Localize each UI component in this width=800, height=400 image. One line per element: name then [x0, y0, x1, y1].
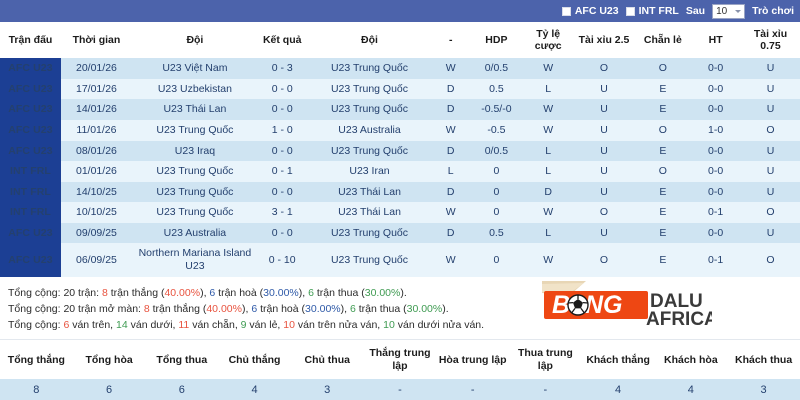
match-over-under-25: O [573, 202, 636, 223]
match-over-under-075: U [741, 58, 800, 79]
page-root: AFC U23 INT FRL Sau 10 Trò chơi Trận đấu… [0, 0, 800, 400]
top-filter-bar: AFC U23 INT FRL Sau 10 Trò chơi [0, 0, 800, 22]
match-row[interactable]: AFC U2311/01/26U23 Trung Quốc1 - 0U23 Au… [0, 120, 800, 141]
match-row[interactable]: AFC U2317/01/26U23 Uzbekistan0 - 0U23 Tr… [0, 79, 800, 100]
match-home-team: U23 Việt Nam [132, 58, 258, 79]
match-date: 14/10/25 [61, 182, 132, 203]
match-date: 06/09/25 [61, 243, 132, 276]
match-halftime-score: 0-0 [690, 79, 741, 100]
match-league-badge: AFC U23 [0, 58, 61, 79]
match-score: 0 - 0 [258, 223, 307, 244]
match-result: D [432, 79, 469, 100]
match-over-under-075: U [741, 182, 800, 203]
stats-value-cell: 8 [0, 379, 73, 400]
match-row[interactable]: INT FRL10/10/25U23 Trung Quốc3 - 1U23 Th… [0, 202, 800, 223]
match-date: 10/10/25 [61, 202, 132, 223]
match-hdp: 0.5 [469, 223, 524, 244]
stats-value-row: 86643---443 [0, 379, 800, 400]
match-odd-even: E [635, 99, 690, 120]
match-over-under-25: U [573, 79, 636, 100]
stats-header-cell: Khách hòa [654, 340, 727, 379]
match-odds-result: L [524, 223, 573, 244]
summary-block: Tổng cộng: 20 trận: 8 trận thắng (40.00%… [0, 277, 800, 340]
match-row[interactable]: AFC U2306/09/25Northern Mariana Island U… [0, 243, 800, 276]
match-league-badge: AFC U23 [0, 120, 61, 141]
match-odds-result: L [524, 161, 573, 182]
header-oddeven: Chẵn lẻ [635, 22, 690, 58]
match-odd-even: E [635, 79, 690, 100]
filter-afc-u23[interactable]: AFC U23 [562, 5, 619, 17]
stats-header-row: Tổng thắngTổng hòaTổng thuaChủ thắngChủ … [0, 340, 800, 379]
match-row[interactable]: AFC U2308/01/26U23 Iraq0 - 0U23 Trung Qu… [0, 141, 800, 162]
match-halftime-score: 0-0 [690, 99, 741, 120]
match-league-badge: AFC U23 [0, 223, 61, 244]
match-over-under-25: O [573, 58, 636, 79]
row-count-select[interactable]: 10 [712, 4, 745, 19]
match-score: 1 - 0 [258, 120, 307, 141]
match-date: 17/01/26 [61, 79, 132, 100]
match-home-team: U23 Trung Quốc [132, 182, 258, 203]
match-odds-result: W [524, 243, 573, 276]
match-halftime-score: 0-0 [690, 182, 741, 203]
filter-afc-u23-label: AFC U23 [575, 5, 619, 17]
match-halftime-score: 0-0 [690, 58, 741, 79]
match-league-badge: AFC U23 [0, 141, 61, 162]
stats-header-cell: Thua trung lập [509, 340, 582, 379]
match-odds-result: W [524, 99, 573, 120]
summary1-losses-pct: 30.00% [365, 287, 401, 299]
match-halftime-score: 0-1 [690, 243, 741, 276]
stats-value-cell: 4 [654, 379, 727, 400]
match-halftime-score: 0-1 [690, 202, 741, 223]
match-over-under-075: U [741, 161, 800, 182]
match-result: D [432, 99, 469, 120]
match-over-under-075: U [741, 99, 800, 120]
match-result: D [432, 141, 469, 162]
bongdalu-africa-logo: B NG DALU AFRICA [540, 279, 712, 331]
match-away-team: U23 Trung Quốc [307, 58, 433, 79]
match-hdp: 0/0.5 [469, 141, 524, 162]
match-result: W [432, 58, 469, 79]
after-label: Sau [686, 5, 705, 17]
summary-stats-table: Tổng thắngTổng hòaTổng thuaChủ thắngChủ … [0, 340, 800, 400]
match-away-team: U23 Thái Lan [307, 182, 433, 203]
stats-header-cell: Khách thua [727, 340, 800, 379]
match-odds-result: W [524, 120, 573, 141]
match-odd-even: E [635, 182, 690, 203]
stats-value-cell: - [509, 379, 582, 400]
match-row[interactable]: AFC U2314/01/26U23 Thái Lan0 - 0U23 Trun… [0, 99, 800, 120]
summary3-over-half: 10 [283, 319, 295, 331]
match-odd-even: O [635, 58, 690, 79]
match-over-under-075: U [741, 79, 800, 100]
match-hdp: 0 [469, 161, 524, 182]
match-home-team: U23 Australia [132, 223, 258, 244]
match-halftime-score: 0-0 [690, 223, 741, 244]
header-odds: Tỷ lệ cược [524, 22, 573, 58]
stats-header-cell: Tổng thua [145, 340, 218, 379]
header-home: Đội [132, 22, 258, 58]
match-result: D [432, 182, 469, 203]
header-hdp: HDP [469, 22, 524, 58]
summary1-wins-pct: 40.00% [164, 287, 200, 299]
match-home-team: U23 Thái Lan [132, 99, 258, 120]
match-date: 01/01/26 [61, 161, 132, 182]
summary2-wins-pct: 40.00% [206, 303, 242, 315]
match-hdp: -0.5 [469, 120, 524, 141]
stats-value-cell: 4 [218, 379, 291, 400]
match-home-team: U23 Trung Quốc [132, 161, 258, 182]
match-hdp: 0 [469, 182, 524, 203]
match-row[interactable]: INT FRL01/01/26U23 Trung Quốc0 - 1U23 Ir… [0, 161, 800, 182]
match-over-under-075: U [741, 141, 800, 162]
match-league-badge: INT FRL [0, 161, 61, 182]
match-away-team: U23 Trung Quốc [307, 79, 433, 100]
match-odd-even: E [635, 202, 690, 223]
match-league-badge: INT FRL [0, 202, 61, 223]
match-over-under-075: O [741, 243, 800, 276]
match-odds-result: L [524, 79, 573, 100]
stats-header-cell: Chủ thua [291, 340, 364, 379]
match-score: 0 - 3 [258, 58, 307, 79]
match-row[interactable]: AFC U2320/01/26U23 Việt Nam0 - 3U23 Trun… [0, 58, 800, 79]
summary3-under-half: 10 [383, 319, 395, 331]
match-score: 0 - 0 [258, 99, 307, 120]
stats-value-cell: 6 [73, 379, 146, 400]
match-score: 0 - 0 [258, 182, 307, 203]
match-home-team: U23 Uzbekistan [132, 79, 258, 100]
match-odds-result: W [524, 58, 573, 79]
match-odd-even: E [635, 141, 690, 162]
match-odd-even: E [635, 243, 690, 276]
match-over-under-25: O [573, 243, 636, 276]
stats-value-cell: 4 [582, 379, 655, 400]
match-date: 08/01/26 [61, 141, 132, 162]
match-home-team: U23 Iraq [132, 141, 258, 162]
match-over-under-25: U [573, 99, 636, 120]
checkbox-icon[interactable] [626, 7, 635, 16]
match-odd-even: E [635, 223, 690, 244]
match-hdp: 0.5 [469, 79, 524, 100]
match-row[interactable]: INT FRL14/10/25U23 Trung Quốc0 - 0U23 Th… [0, 182, 800, 203]
stats-header-cell: Thắng trung lập [364, 340, 437, 379]
header-league: Trận đấu [0, 22, 61, 58]
stats-header-cell: Tổng hòa [73, 340, 146, 379]
header-dash: - [432, 22, 469, 58]
match-score: 0 - 0 [258, 141, 307, 162]
summary3-under: 14 [116, 319, 128, 331]
match-away-team: U23 Trung Quốc [307, 223, 433, 244]
match-history-table: Trận đấu Thời gian Đội Kết quả Đội - HDP… [0, 22, 800, 277]
match-league-badge: INT FRL [0, 182, 61, 203]
match-over-under-25: U [573, 223, 636, 244]
stats-value-cell: 6 [145, 379, 218, 400]
checkbox-icon[interactable] [562, 7, 571, 16]
stats-value-cell: - [364, 379, 437, 400]
match-hdp: -0.5/-0 [469, 99, 524, 120]
stats-value-cell: 3 [291, 379, 364, 400]
header-ou25: Tài xỉu 2.5 [573, 22, 636, 58]
header-ou075: Tài xỉu 0.75 [741, 22, 800, 58]
match-row[interactable]: AFC U2309/09/25U23 Australia0 - 0U23 Tru… [0, 223, 800, 244]
match-odd-even: O [635, 120, 690, 141]
header-result: Kết quả [258, 22, 307, 58]
match-result: L [432, 161, 469, 182]
logo-svg: B NG DALU AFRICA [540, 279, 712, 331]
match-league-badge: AFC U23 [0, 243, 61, 276]
stats-header-cell: Tổng thắng [0, 340, 73, 379]
match-result: W [432, 120, 469, 141]
filter-int-frl[interactable]: INT FRL [626, 5, 679, 17]
match-league-badge: AFC U23 [0, 99, 61, 120]
match-result: W [432, 243, 469, 276]
summary1-draws-pct: 30.00% [263, 287, 299, 299]
summary2-draws-pct: 30.00% [305, 303, 341, 315]
match-halftime-score: 0-0 [690, 161, 741, 182]
summary3-even: 11 [178, 319, 189, 331]
match-over-under-075: U [741, 223, 800, 244]
match-over-under-25: U [573, 182, 636, 203]
match-away-team: U23 Thái Lan [307, 202, 433, 223]
stats-header-cell: Khách thắng [582, 340, 655, 379]
match-away-team: U23 Australia [307, 120, 433, 141]
stats-value-cell: - [436, 379, 509, 400]
header-ht: HT [690, 22, 741, 58]
match-table-header-row: Trận đấu Thời gian Đội Kết quả Đội - HDP… [0, 22, 800, 58]
match-score: 3 - 1 [258, 202, 307, 223]
match-odds-result: W [524, 202, 573, 223]
match-away-team: U23 Trung Quốc [307, 99, 433, 120]
match-over-under-075: O [741, 202, 800, 223]
game-label[interactable]: Trò chơi [752, 5, 794, 17]
match-over-under-25: U [573, 161, 636, 182]
match-away-team: U23 Iran [307, 161, 433, 182]
row-count-value: 10 [716, 6, 727, 17]
logo-africa-text: AFRICA [646, 309, 712, 330]
header-time: Thời gian [61, 22, 132, 58]
match-home-team: Northern Mariana Island U23 [132, 243, 258, 276]
match-hdp: 0 [469, 202, 524, 223]
match-odd-even: O [635, 161, 690, 182]
match-score: 0 - 0 [258, 79, 307, 100]
match-halftime-score: 0-0 [690, 141, 741, 162]
summary2-losses-pct: 30.00% [407, 303, 443, 315]
match-date: 09/09/25 [61, 223, 132, 244]
match-hdp: 0/0.5 [469, 58, 524, 79]
match-result: D [432, 223, 469, 244]
match-odds-result: L [524, 141, 573, 162]
match-over-under-075: O [741, 120, 800, 141]
match-hdp: 0 [469, 243, 524, 276]
match-away-team: U23 Trung Quốc [307, 141, 433, 162]
match-result: W [432, 202, 469, 223]
match-over-under-25: U [573, 120, 636, 141]
match-score: 0 - 1 [258, 161, 307, 182]
match-home-team: U23 Trung Quốc [132, 120, 258, 141]
chevron-down-icon [735, 10, 741, 13]
stats-value-cell: 3 [727, 379, 800, 400]
filter-int-frl-label: INT FRL [639, 5, 679, 17]
match-odds-result: D [524, 182, 573, 203]
match-score: 0 - 10 [258, 243, 307, 276]
match-date: 11/01/26 [61, 120, 132, 141]
match-date: 14/01/26 [61, 99, 132, 120]
stats-header-cell: Chủ thắng [218, 340, 291, 379]
match-league-badge: AFC U23 [0, 79, 61, 100]
logo-ng-letters: NG [585, 291, 623, 319]
match-halftime-score: 1-0 [690, 120, 741, 141]
stats-header-cell: Hòa trung lập [436, 340, 509, 379]
match-date: 20/01/26 [61, 58, 132, 79]
match-over-under-25: U [573, 141, 636, 162]
match-away-team: U23 Trung Quốc [307, 243, 433, 276]
match-home-team: U23 Trung Quốc [132, 202, 258, 223]
header-away: Đội [307, 22, 433, 58]
